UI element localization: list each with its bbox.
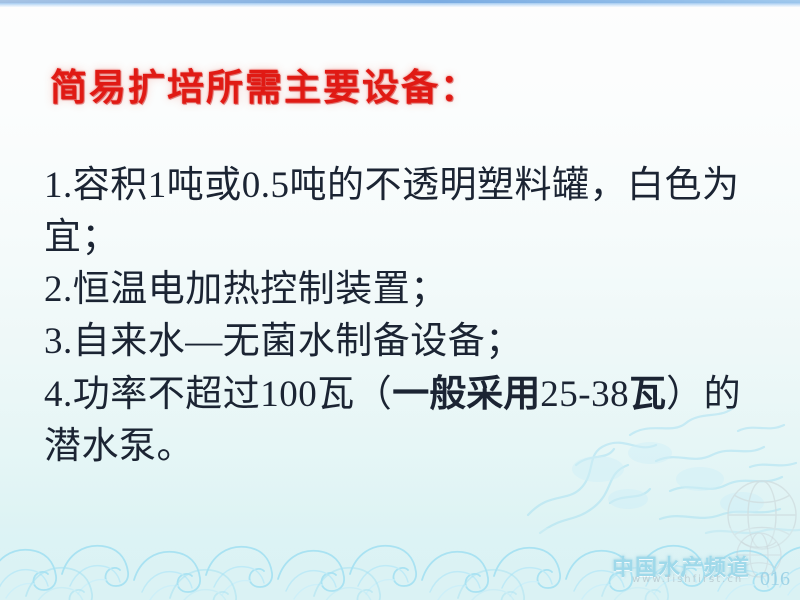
list-item-1: 1.容积1吨或0.5吨的不透明塑料罐，白色为宜；	[44, 160, 774, 264]
list-item-4: 4.功率不超过100瓦（一般采用25-38瓦）的潜水泵。	[44, 368, 774, 473]
globe-icon	[730, 526, 788, 584]
wave-pattern-decoration	[0, 528, 800, 600]
watermark-year: 016	[760, 568, 790, 591]
slide-body: 1.容积1吨或0.5吨的不透明塑料罐，白色为宜； 2.恒温电加热控制装置； 3.…	[44, 160, 774, 473]
list-item-4-emphasis-a: 一般采用	[392, 372, 540, 415]
list-item-2: 2.恒温电加热控制装置；	[44, 264, 774, 316]
list-item-3-text: 3.自来水—无菌水制备设备；	[44, 321, 523, 362]
list-item-2-text: 2.恒温电加热控制装置；	[44, 269, 448, 310]
list-item-1-text: 1.容积1吨或0.5吨的不透明塑料罐，白色为宜；	[44, 165, 740, 258]
channel-watermark: 中国水产频道 www.fishfirst.cn 016	[612, 544, 792, 594]
list-item-3: 3.自来水—无菌水制备设备；	[44, 316, 774, 368]
top-accent-strip	[0, 0, 800, 7]
list-item-4-text-a: 4.功率不超过100瓦（	[44, 374, 392, 415]
list-item-4-emphasis-b: 瓦	[629, 372, 666, 415]
watermark-url: www.fishfirst.cn	[632, 574, 743, 585]
list-item-4-text-b: 25-38	[540, 374, 629, 415]
presentation-slide: 简易扩培所需主要设备： 1.容积1吨或0.5吨的不透明塑料罐，白色为宜； 2.恒…	[0, 0, 800, 600]
watermark-brand: 中国水产频道	[612, 550, 750, 582]
slide-title: 简易扩培所需主要设备：	[50, 57, 479, 111]
